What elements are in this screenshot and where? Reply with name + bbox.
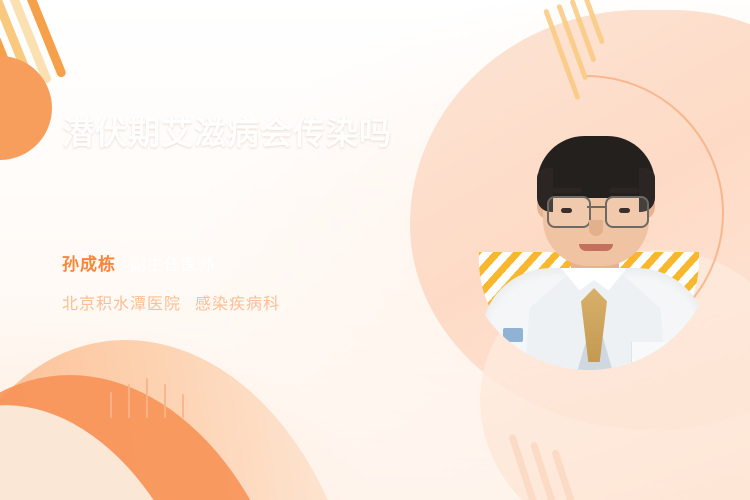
avatar bbox=[463, 92, 715, 370]
promo-card: 潜伏期艾滋病会传染吗 孙成栋 副主任医师 北京积水潭医院 感染疾病科 bbox=[0, 0, 750, 500]
decorative-arc-lines bbox=[110, 358, 200, 418]
doctor-title: 副主任医师 bbox=[130, 251, 215, 275]
portrait-clip bbox=[463, 92, 715, 370]
doctor-byline: 孙成栋 副主任医师 bbox=[62, 250, 215, 275]
hospital-name: 北京积水潭医院 bbox=[62, 290, 181, 314]
doctor-illustration bbox=[463, 92, 715, 370]
doctor-name: 孙成栋 bbox=[62, 250, 116, 275]
doctor-affiliation: 北京积水潭医院 感染疾病科 bbox=[62, 290, 280, 314]
id-badge-icon bbox=[503, 328, 523, 342]
page-title: 潜伏期艾滋病会传染吗 bbox=[62, 112, 422, 155]
department-name: 感染疾病科 bbox=[195, 290, 280, 314]
